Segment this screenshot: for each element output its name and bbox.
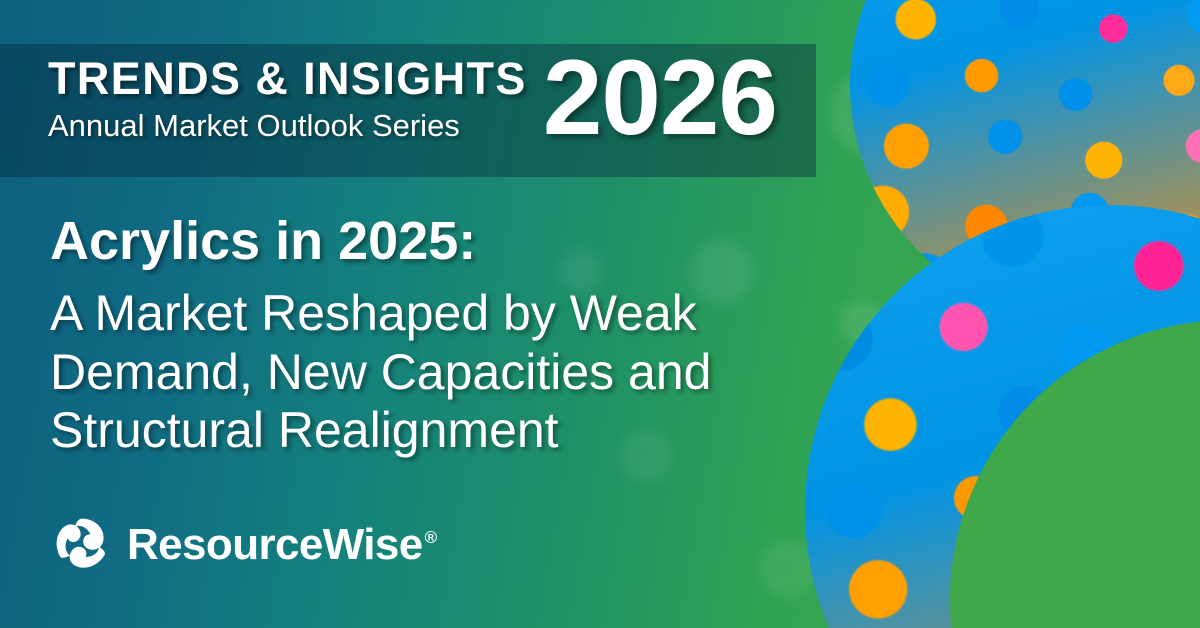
headline-secondary-line: A Market Reshaped by Weak [50, 284, 840, 343]
header-content: TRENDS & INSIGHTS Annual Market Outlook … [48, 44, 816, 177]
series-subtitle: Annual Market Outlook Series [48, 110, 527, 141]
headline-secondary-line: Demand, New Capacities and [50, 343, 840, 402]
brand-logo-lockup: ResourceWise® [52, 515, 437, 575]
series-title: TRENDS & INSIGHTS [48, 56, 527, 101]
brand-wordmark: ResourceWise® [127, 523, 437, 567]
header-text-group: TRENDS & INSIGHTS Annual Market Outlook … [48, 44, 527, 141]
registered-trademark-icon: ® [425, 528, 437, 547]
headline-secondary-line: Structural Realignment [50, 401, 840, 460]
brand-name: ResourceWise [127, 520, 423, 569]
promotional-banner: TRENDS & INSIGHTS Annual Market Outlook … [0, 0, 1200, 628]
headline-primary: Acrylics in 2025: [50, 212, 840, 270]
headline-block: Acrylics in 2025: A Market Reshaped by W… [50, 212, 840, 460]
headline-secondary: A Market Reshaped by Weak Demand, New Ca… [50, 284, 840, 460]
series-year: 2026 [543, 50, 777, 144]
resourcewise-trefoil-icon [52, 515, 112, 575]
